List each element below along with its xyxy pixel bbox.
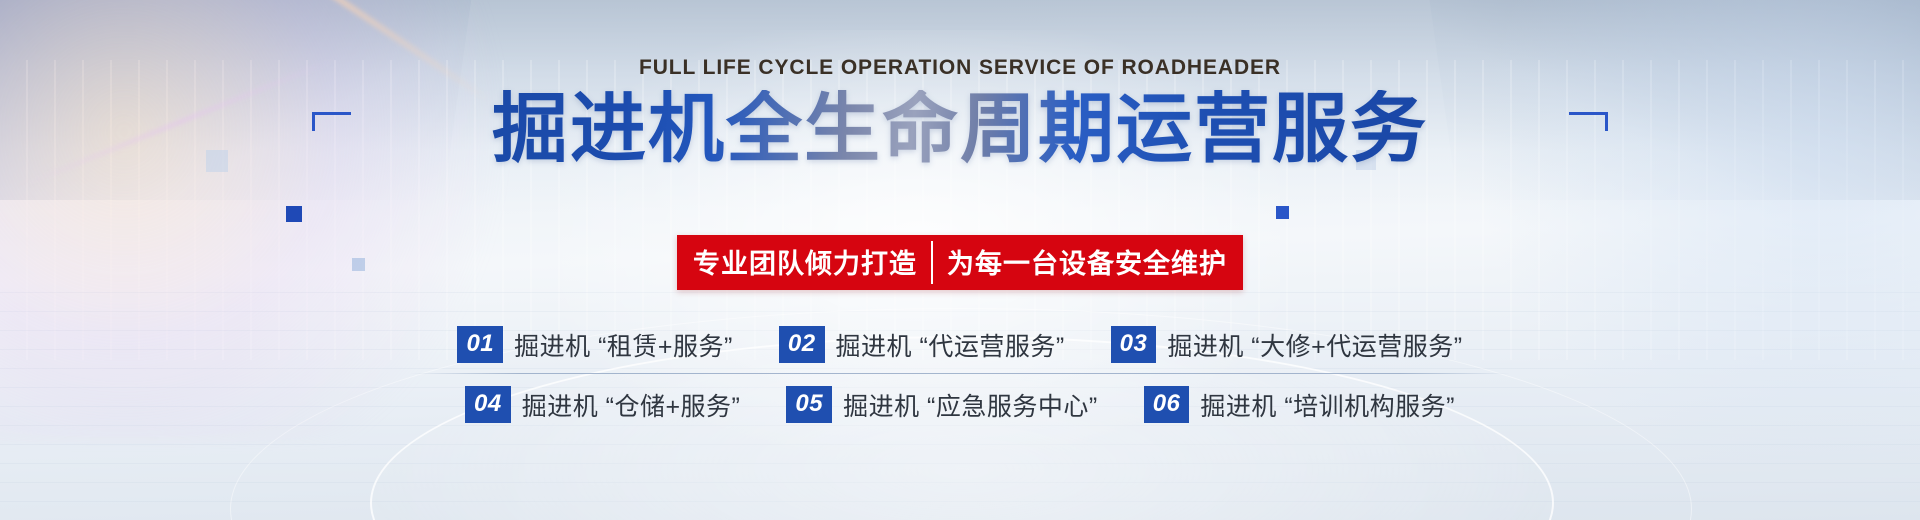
service-row-1: 01 掘进机 “租赁+服务” 02 掘进机 “代运营服务” 03 掘进机 “大修…	[457, 320, 1462, 371]
service-label: 掘进机 “仓储+服务”	[522, 387, 741, 423]
service-item-06[interactable]: 06 掘进机 “培训机构服务”	[1144, 386, 1455, 423]
service-item-04[interactable]: 04 掘进机 “仓储+服务”	[465, 386, 740, 423]
banner-content: FULL LIFE CYCLE OPERATION SERVICE OF ROA…	[0, 0, 1920, 520]
service-number-badge: 02	[779, 326, 825, 363]
service-label: 掘进机 “大修+代运营服务”	[1167, 327, 1462, 363]
service-item-02[interactable]: 02 掘进机 “代运营服务”	[779, 326, 1065, 363]
service-list: 01 掘进机 “租赁+服务” 02 掘进机 “代运营服务” 03 掘进机 “大修…	[370, 320, 1550, 431]
service-label: 掘进机 “代运营服务”	[836, 327, 1065, 363]
service-row-divider	[410, 373, 1510, 374]
service-number-badge: 04	[465, 386, 511, 423]
service-number-badge: 01	[457, 326, 503, 363]
service-row-2: 04 掘进机 “仓储+服务” 05 掘进机 “应急服务中心” 06 掘进机 “培…	[465, 380, 1455, 431]
service-number-badge: 03	[1111, 326, 1157, 363]
banner-headline: 掘进机全生命周期运营服务	[492, 90, 1428, 171]
roadheader-banner: FULL LIFE CYCLE OPERATION SERVICE OF ROA…	[0, 0, 1920, 520]
service-number-badge: 06	[1144, 386, 1190, 423]
service-number-badge: 05	[786, 386, 832, 423]
service-item-05[interactable]: 05 掘进机 “应急服务中心”	[786, 386, 1097, 423]
banner-eyebrow-english: FULL LIFE CYCLE OPERATION SERVICE OF ROA…	[639, 56, 1281, 80]
service-item-01[interactable]: 01 掘进机 “租赁+服务”	[457, 326, 732, 363]
red-slogan-bar: 专业团队倾力打造 为每一台设备安全维护	[677, 235, 1243, 290]
red-slogan-left: 专业团队倾力打造	[679, 237, 931, 288]
service-label: 掘进机 “培训机构服务”	[1200, 387, 1455, 423]
service-label: 掘进机 “租赁+服务”	[514, 327, 733, 363]
service-item-03[interactable]: 03 掘进机 “大修+代运营服务”	[1111, 326, 1463, 363]
service-label: 掘进机 “应急服务中心”	[843, 387, 1098, 423]
red-slogan-right: 为每一台设备安全维护	[933, 237, 1241, 288]
